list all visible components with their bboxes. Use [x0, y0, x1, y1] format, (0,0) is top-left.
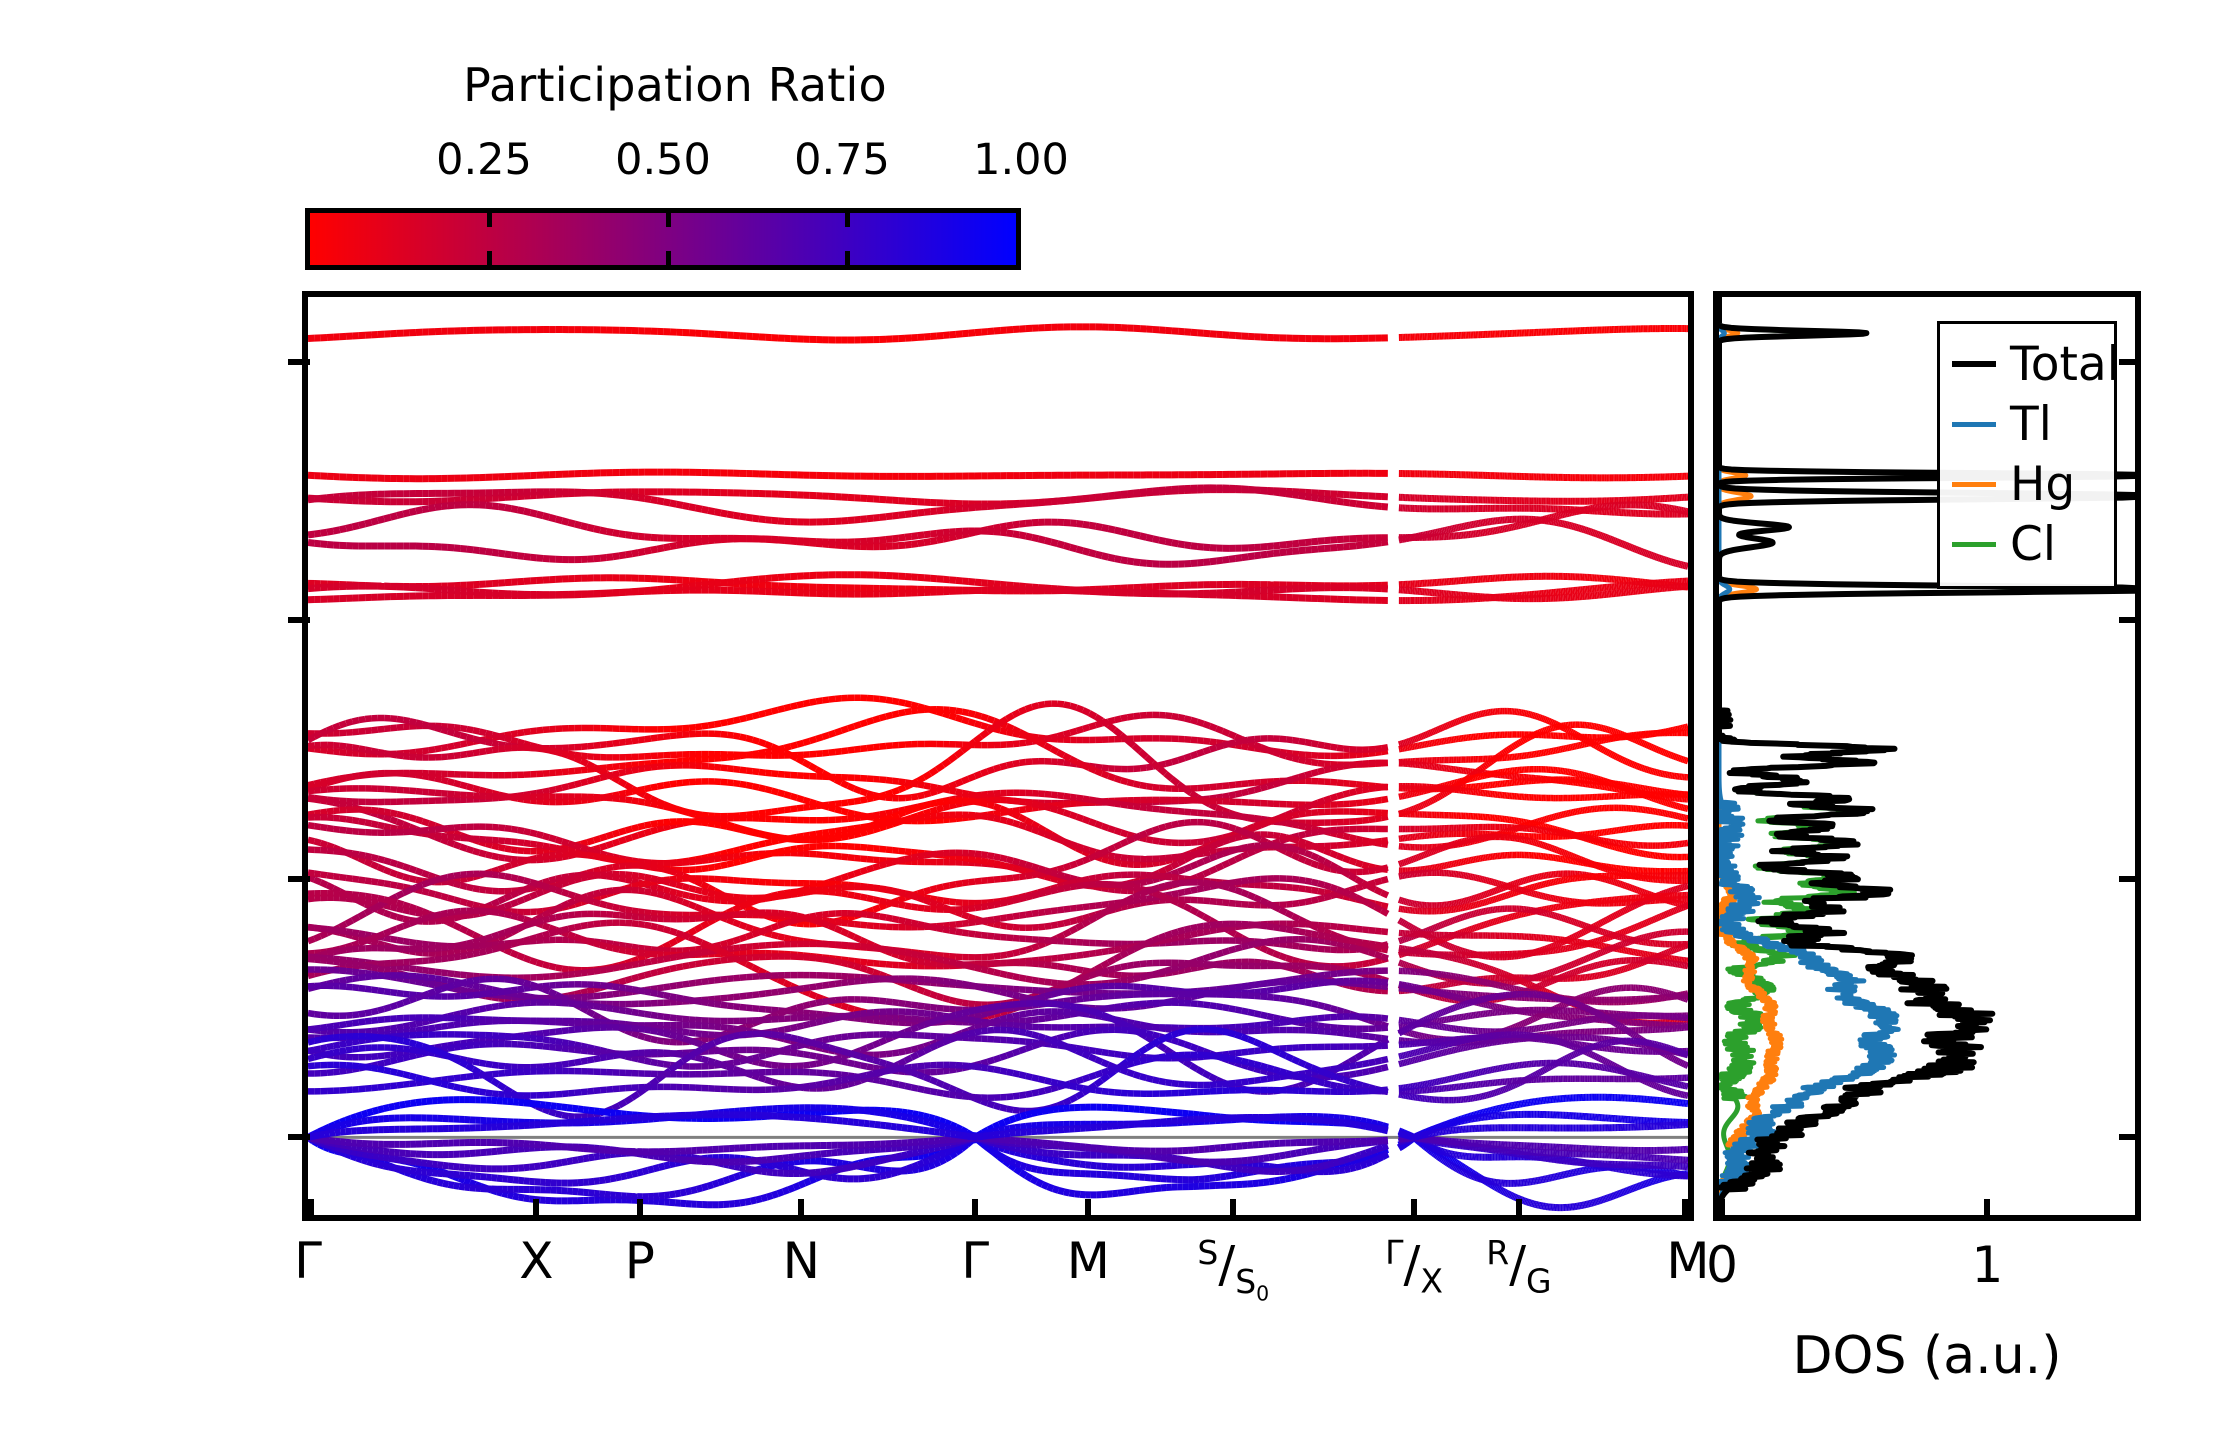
dos-x-axis-tick-mark — [1719, 1199, 1725, 1221]
colorbar-tick-mark — [666, 213, 671, 227]
x-axis-tick-label: Γ — [961, 1236, 989, 1286]
colorbar-gradient — [305, 208, 1021, 270]
x-axis-tick-label: R/G — [1486, 1236, 1551, 1298]
legend-line-icon — [1952, 422, 1996, 427]
legend-entry: Tl — [1952, 394, 2102, 454]
colorbar-tick-mark — [845, 213, 850, 227]
dos-x-axis-tick-label: 0 — [1706, 1236, 1738, 1294]
dos-legend: TotalTlHgCl — [1937, 321, 2117, 589]
x-axis-tick-label: P — [625, 1236, 655, 1286]
legend-entry: Hg — [1952, 454, 2102, 514]
x-axis-tick-label: N — [783, 1236, 820, 1286]
legend-entry: Cl — [1952, 514, 2102, 574]
band-curve — [308, 327, 1388, 340]
colorbar-tick-mark — [487, 213, 492, 227]
participation-ratio-colorbar: Participation Ratio 0.250.500.751.00 — [305, 30, 1045, 260]
dos-x-axis-tick-label: 1 — [1971, 1236, 2003, 1294]
colorbar-tick-label: 1.00 — [973, 135, 1069, 185]
colorbar-tick-mark — [487, 251, 492, 265]
colorbar-tick-mark — [666, 251, 671, 265]
band-structure-curves — [308, 297, 1688, 1215]
legend-label: Hg — [2010, 461, 2075, 508]
y-axis-tick-mark — [288, 876, 310, 882]
x-axis-tick-mark — [533, 1199, 539, 1221]
y-axis-tick-mark — [288, 1134, 310, 1140]
legend-label: Total — [2010, 341, 2120, 388]
x-axis-tick-mark — [798, 1199, 804, 1221]
colorbar-tick-label: 0.75 — [794, 135, 890, 185]
dos-y-axis-tick-mark — [2119, 876, 2141, 882]
colorbar-tick-label: 0.50 — [615, 135, 711, 185]
dos-y-axis-tick-mark — [2119, 617, 2141, 623]
legend-label: Cl — [2010, 521, 2056, 568]
legend-line-icon — [1952, 542, 1996, 547]
x-axis-tick-label: M — [1666, 1236, 1709, 1286]
dos-y-axis-tick-mark — [2119, 1134, 2141, 1140]
dos-y-axis-tick-mark — [2119, 359, 2141, 365]
legend-label: Tl — [2010, 401, 2052, 448]
legend-line-icon — [1952, 482, 1996, 487]
x-axis-tick-mark — [972, 1199, 978, 1221]
phonon-figure: Participation Ratio 0.250.500.751.00 Fre… — [0, 0, 2222, 1455]
x-axis-tick-label: X — [519, 1236, 553, 1286]
x-axis-tick-mark — [1682, 1199, 1688, 1221]
x-axis-tick-label: S/S0 — [1197, 1236, 1269, 1304]
x-axis-tick-label: Γ — [294, 1236, 322, 1286]
colorbar-tick-label: 0.25 — [436, 135, 532, 185]
colorbar-tick-mark — [845, 251, 850, 265]
x-axis-tick-mark — [308, 1199, 314, 1221]
x-axis-tick-mark — [637, 1199, 643, 1221]
x-axis-tick-mark — [1230, 1199, 1236, 1221]
band-curve — [1399, 329, 1688, 338]
x-axis-tick-mark — [1516, 1199, 1522, 1221]
dos-x-axis-tick-mark — [1984, 1199, 1990, 1221]
band-curve — [308, 472, 1388, 479]
band-curve — [308, 704, 1388, 823]
dos-x-axis-label: DOS (a.u.) — [1713, 1326, 2141, 1386]
x-axis-tick-mark — [1411, 1199, 1417, 1221]
band-curve — [1399, 519, 1688, 566]
colorbar-title: Participation Ratio — [305, 58, 1045, 112]
y-axis-tick-mark — [288, 359, 310, 365]
y-axis-tick-mark — [288, 617, 310, 623]
legend-line-icon — [1952, 361, 1996, 367]
band-curve — [1399, 855, 1688, 871]
band-curve — [1399, 497, 1688, 501]
colorbar-tick-labels: 0.250.500.751.00 — [305, 135, 1045, 195]
x-axis-tick-label: Γ/X — [1385, 1236, 1443, 1298]
band-structure-plot-area — [302, 291, 1694, 1221]
legend-entry: Total — [1952, 334, 2102, 394]
band-curve — [1399, 474, 1688, 478]
x-axis-tick-label: M — [1067, 1236, 1110, 1286]
x-axis-tick-mark — [1085, 1199, 1091, 1221]
